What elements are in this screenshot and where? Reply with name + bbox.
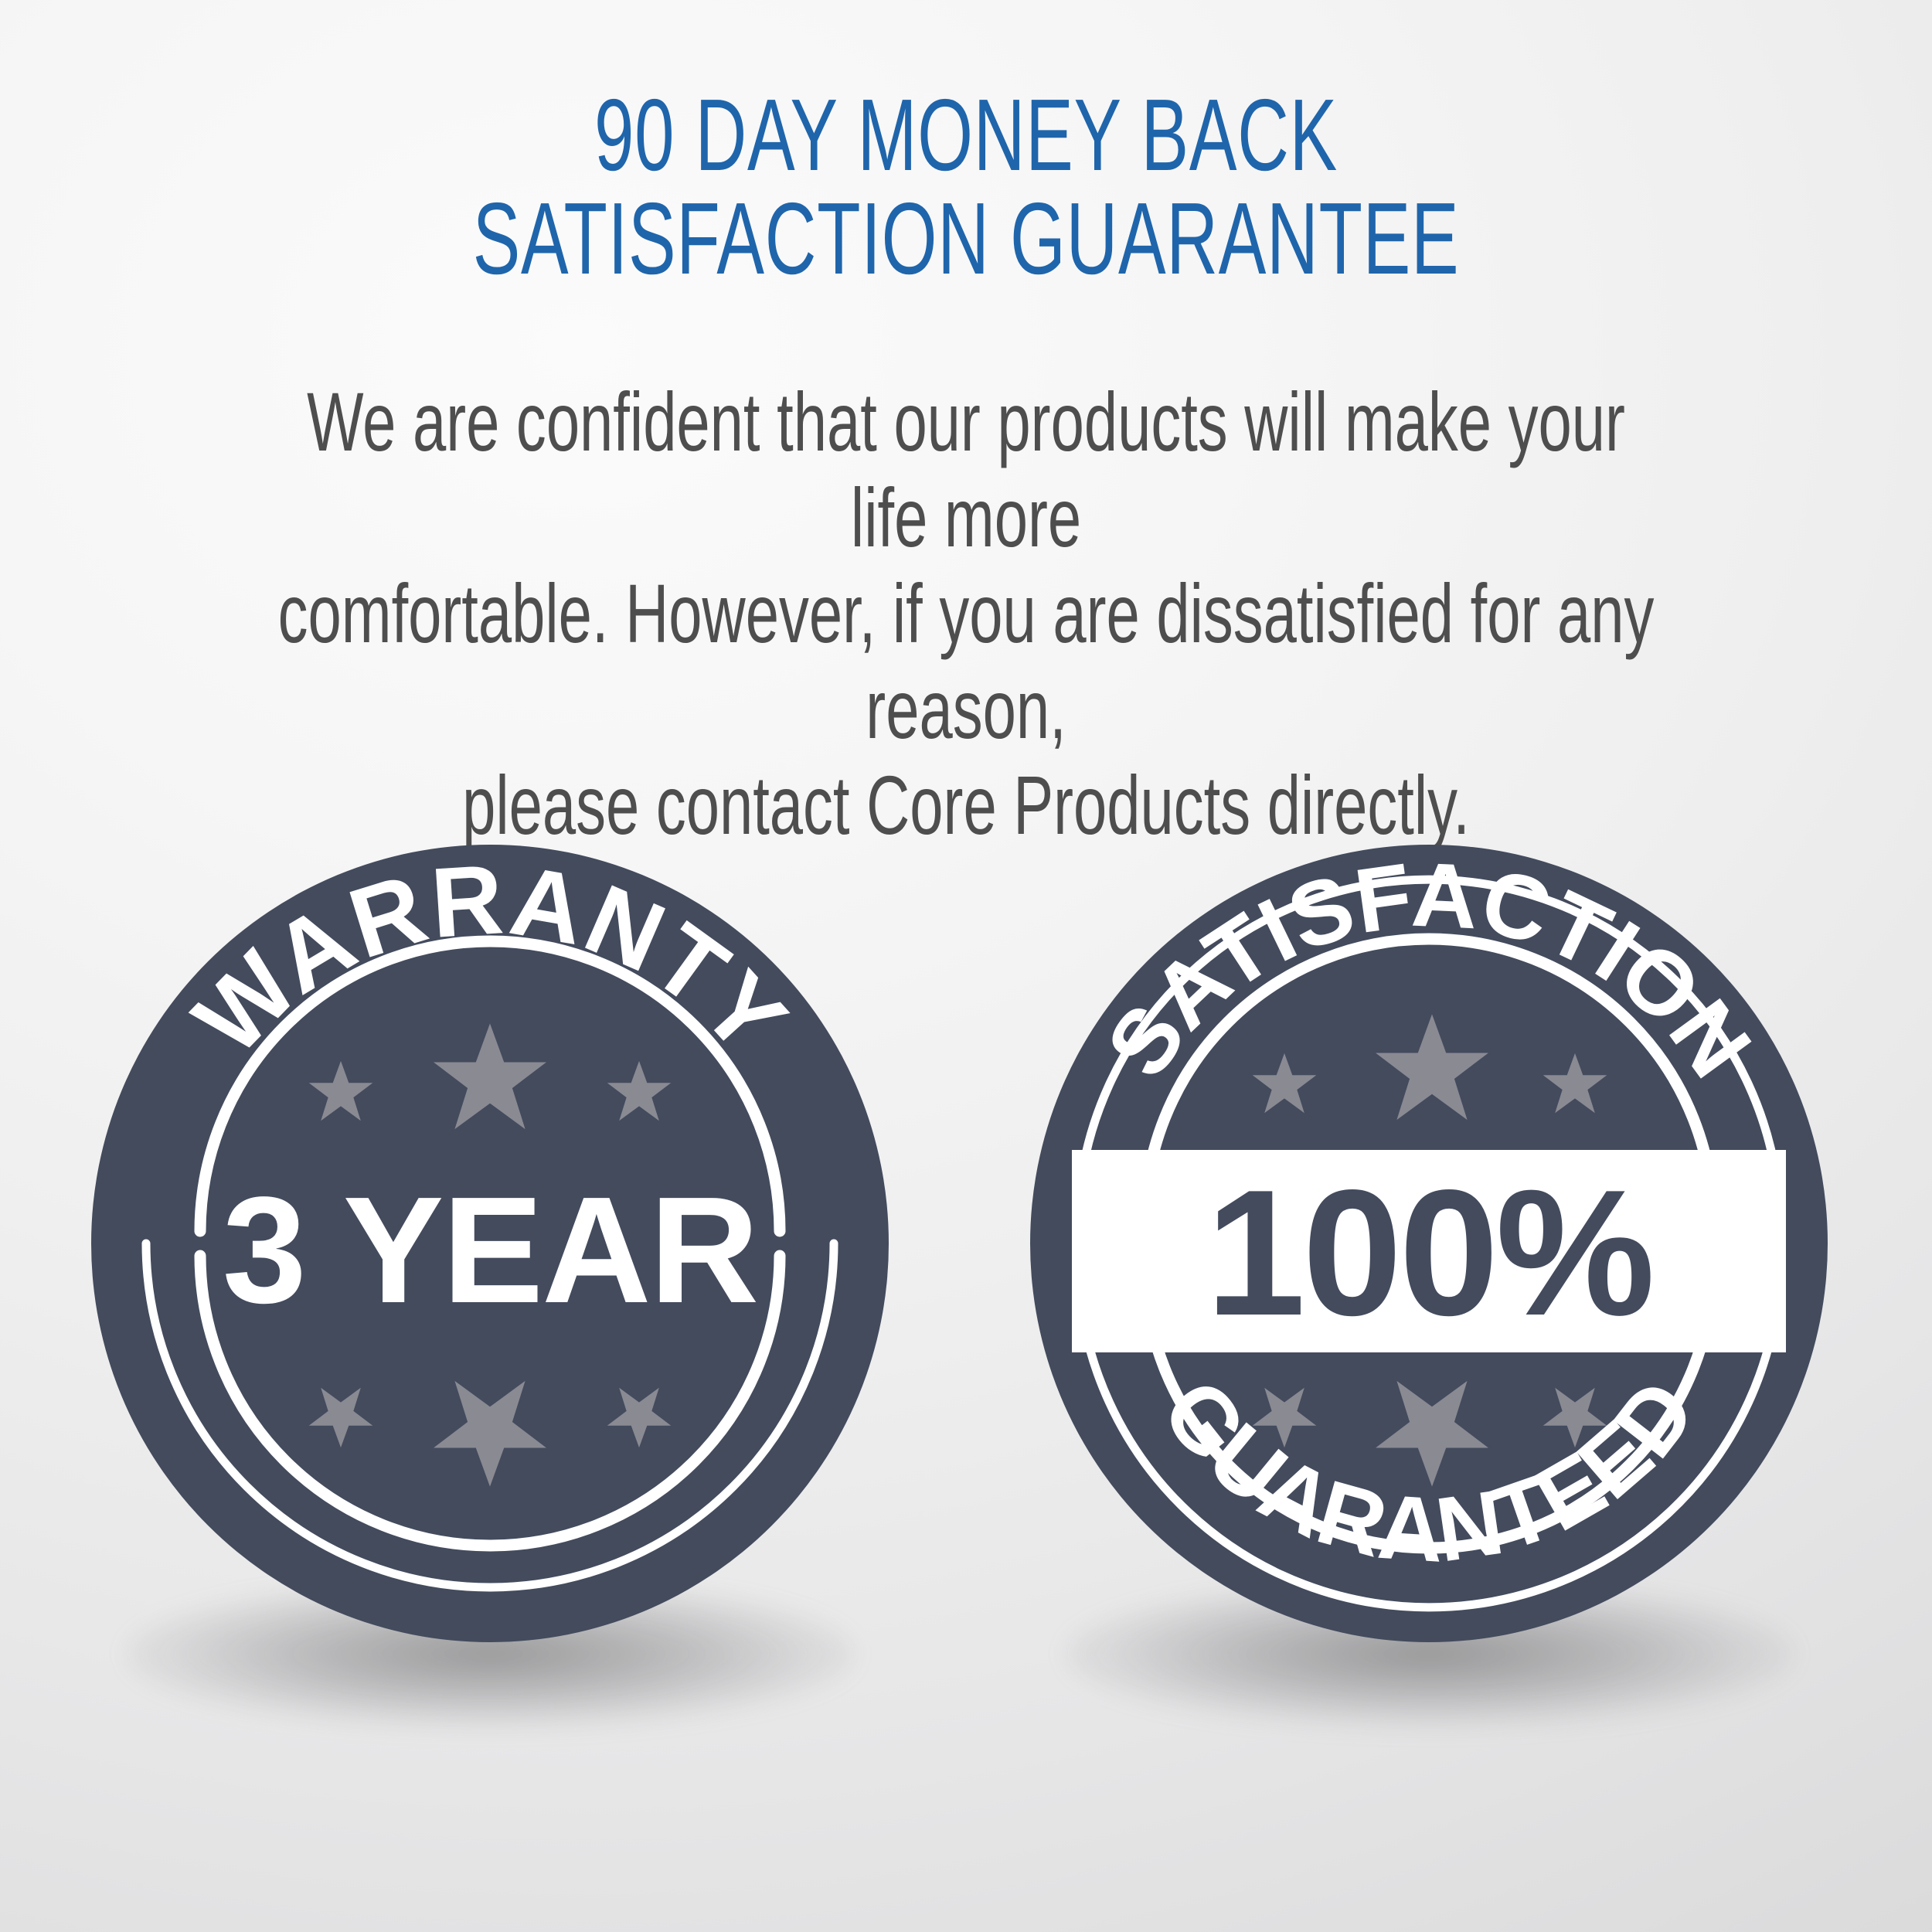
- badge-satisfaction: SATISFACTION GUARANTEED: [993, 808, 1866, 1719]
- guarantee-graphic: 90 DAY MONEY BACK SATISFACTION GUARANTEE…: [0, 0, 1932, 1932]
- intro-paragraph: We are confident that our products will …: [270, 291, 1662, 853]
- badge-warranty-center-label: 3 YEAR: [223, 1165, 757, 1335]
- badge-row: WARRANTY 3 YEAR: [0, 808, 1932, 1719]
- badge-satisfaction-graphic: SATISFACTION GUARANTEED: [1030, 845, 1828, 1642]
- header-block: 90 DAY MONEY BACK SATISFACTION GUARANTEE…: [0, 0, 1932, 853]
- badge-satisfaction-percent-label: 100%: [1206, 1153, 1651, 1353]
- badge-warranty: WARRANTY 3 YEAR: [54, 808, 927, 1719]
- page-title: 90 DAY MONEY BACK SATISFACTION GUARANTEE: [290, 0, 1642, 291]
- badge-warranty-graphic: WARRANTY 3 YEAR: [91, 845, 889, 1642]
